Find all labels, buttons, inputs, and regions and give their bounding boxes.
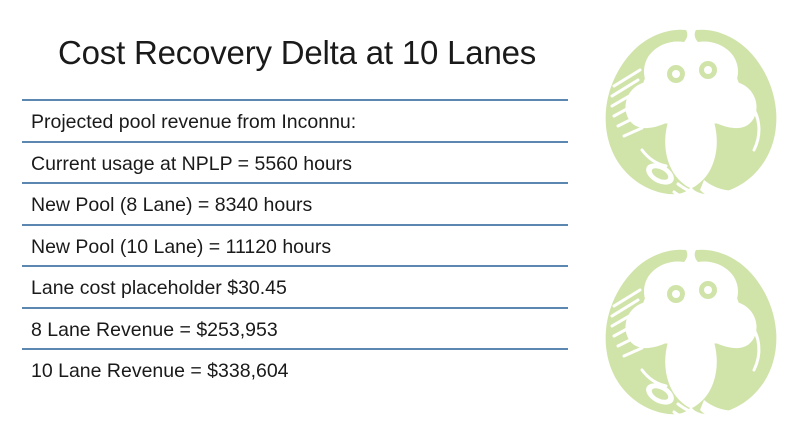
list-item-label: Projected pool revenue from Inconnu: bbox=[31, 109, 356, 135]
slide-canvas: Cost Recovery Delta at 10 Lanes Projecte… bbox=[0, 0, 800, 430]
list-item: 8 Lane Revenue = $253,953 bbox=[22, 307, 568, 349]
list-item: 10 Lane Revenue = $338,604 bbox=[22, 348, 568, 390]
list-item: Projected pool revenue from Inconnu: bbox=[22, 99, 568, 141]
list-item-label: New Pool (8 Lane) = 8340 hours bbox=[31, 192, 312, 218]
list-item-label: New Pool (10 Lane) = 11120 hours bbox=[31, 234, 331, 260]
list-item-label: 8 Lane Revenue = $253,953 bbox=[31, 317, 278, 343]
list-item: New Pool (8 Lane) = 8340 hours bbox=[22, 182, 568, 224]
page-title: Cost Recovery Delta at 10 Lanes bbox=[58, 33, 578, 73]
list-item-label: 10 Lane Revenue = $338,604 bbox=[31, 358, 289, 384]
two-fish-logo-icon bbox=[582, 8, 800, 208]
two-fish-logo-icon bbox=[582, 228, 800, 428]
list-item: Lane cost placeholder $30.45 bbox=[22, 265, 568, 307]
list-item-label: Lane cost placeholder $30.45 bbox=[31, 275, 287, 301]
list-item-label: Current usage at NPLP = 5560 hours bbox=[31, 151, 352, 177]
content-list: Projected pool revenue from Inconnu: Cur… bbox=[22, 99, 568, 390]
list-item: Current usage at NPLP = 5560 hours bbox=[22, 141, 568, 183]
list-item: New Pool (10 Lane) = 11120 hours bbox=[22, 224, 568, 266]
